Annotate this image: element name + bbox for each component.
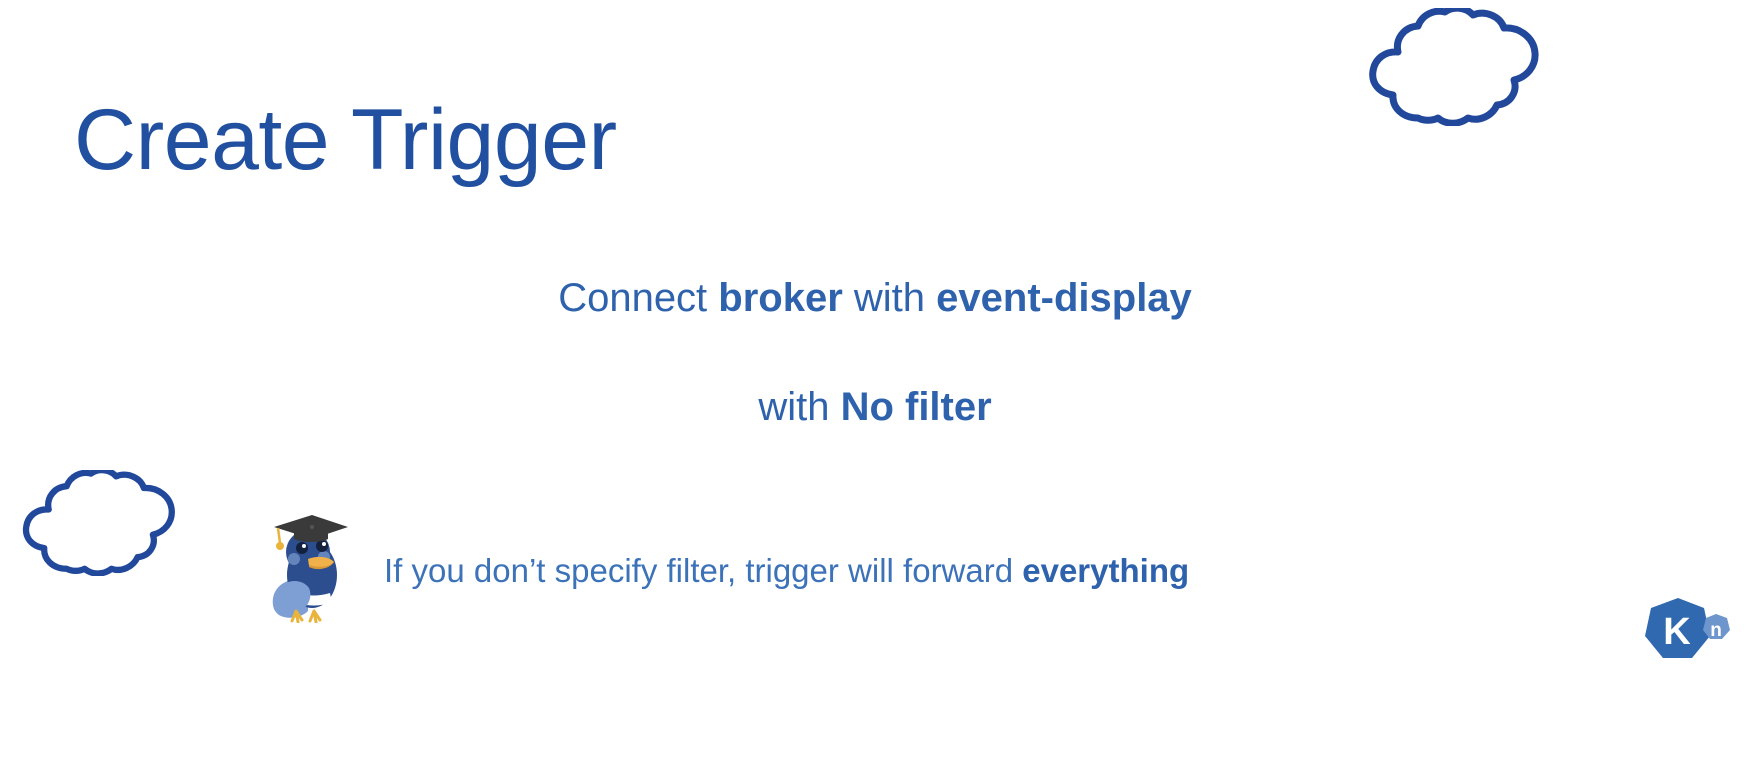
graduate-bird-mascot-icon (268, 505, 350, 623)
page-title: Create Trigger (74, 94, 617, 187)
connect-statement-middle: with (843, 276, 936, 320)
knative-logo-k: K (1663, 611, 1691, 653)
connect-statement-event-display: event-display (936, 276, 1192, 320)
filter-note: If you don’t specify filter, trigger wil… (384, 554, 1189, 623)
cloud-outline-icon (20, 470, 178, 576)
slide-canvas: Create Trigger Connect broker with event… (0, 0, 1750, 766)
connect-statement-prefix: Connect (558, 276, 718, 320)
cloud-outline-icon (1366, 8, 1542, 126)
filter-note-everything: everything (1022, 552, 1189, 589)
knative-logo-icon: K n (1640, 582, 1732, 674)
connect-statement-broker: broker (718, 276, 843, 320)
filter-statement-no-filter: No filter (841, 385, 992, 429)
filter-note-prefix: If you don’t specify filter, trigger wil… (384, 552, 1022, 589)
connect-statement: Connect broker with event-display (0, 276, 1750, 321)
filter-statement-prefix: with (758, 385, 840, 429)
note-row: If you don’t specify filter, trigger wil… (268, 505, 1189, 623)
filter-statement: with No filter (0, 385, 1750, 430)
knative-logo-n: n (1710, 620, 1722, 641)
